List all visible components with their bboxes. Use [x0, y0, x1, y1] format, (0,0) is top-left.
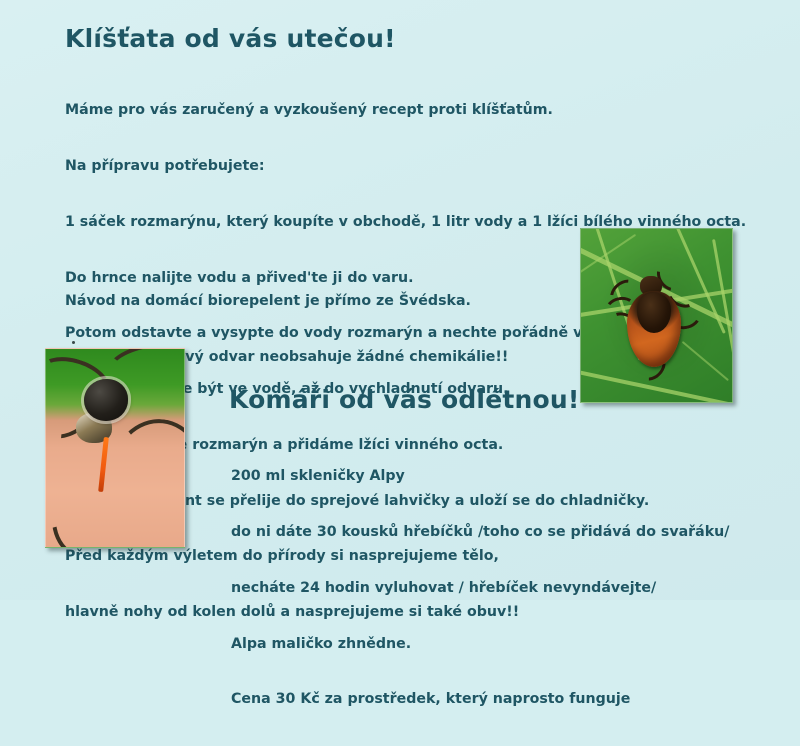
ticks-body-line: Na přípravu potřebujete:: [65, 157, 746, 176]
mosquito-body-line: Alpa maličko zhnědne.: [231, 635, 729, 654]
mosquito-heading: Komáři od vás odlétnou!: [229, 385, 579, 414]
ticks-body-line: Máme pro vás zaručený a vyzkoušený recep…: [65, 101, 746, 120]
mosquito-body-line: necháte 24 hodin vyluhovat / hřebíček ne…: [231, 579, 729, 598]
mosquito-compound-eye: [84, 379, 128, 421]
mosquito-body-line: Cena 30 Kč za prostředek, který naprosto…: [231, 690, 729, 709]
slide-canvas: Klíšťata od vás utečou! Máme pro vás zar…: [0, 0, 800, 600]
mosquito-body-line: 200 ml skleničky Alpy: [231, 467, 729, 486]
mosquito-photo: [45, 348, 185, 548]
ticks-note-line: Návod na domácí biorepelent je přímo ze …: [65, 292, 508, 311]
tick-photo: [580, 228, 733, 403]
mosquito-body-text: 200 ml skleničky Alpy do ni dáte 30 kous…: [231, 430, 729, 746]
mosquito-body-line: do ni dáte 30 kousků hřebíčků /toho co s…: [231, 523, 729, 542]
stray-dot-artifact: [72, 341, 75, 344]
tick-scutum: [637, 293, 671, 333]
ticks-heading: Klíšťata od vás utečou!: [65, 24, 396, 53]
